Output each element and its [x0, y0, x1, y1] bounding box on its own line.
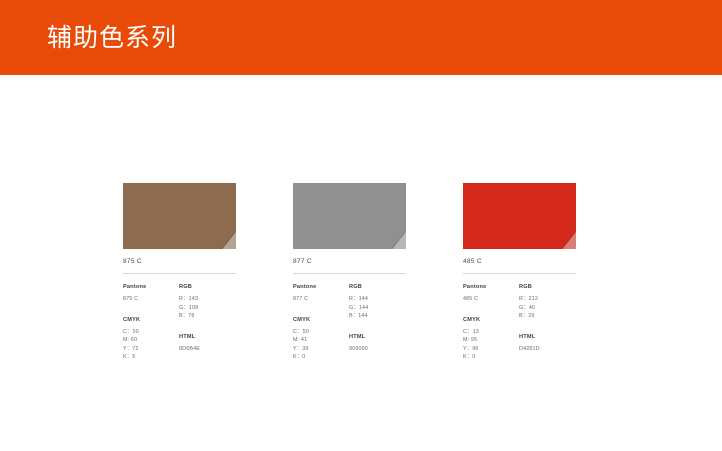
cmyk-c: C：13 — [463, 328, 519, 337]
rgb-b: B：144 — [349, 312, 405, 321]
divider — [463, 273, 576, 274]
color-chip[interactable] — [123, 183, 236, 249]
cmyk-k: K：0 — [463, 353, 519, 362]
cmyk-y: Y：96 — [463, 345, 519, 354]
spec-col-right: RGB R：212 G：40 B：29 HTML D4281D — [519, 284, 575, 362]
rgb-b: B：29 — [519, 312, 575, 321]
rgb-b: B：78 — [179, 312, 235, 321]
spec-col-right: RGB R：144 G：144 B：144 HTML 909090 — [349, 284, 405, 362]
cmyk-c: C：50 — [123, 328, 179, 337]
pantone-value: 877 C — [293, 295, 349, 304]
cmyk-y: Y：39 — [293, 345, 349, 354]
cmyk-c: C：50 — [293, 328, 349, 337]
pantone-value: 485 C — [463, 295, 519, 304]
cmyk-group: CMYK C：50 M: 41 Y：39 K：0 — [293, 317, 349, 362]
rgb-g: G：108 — [179, 304, 235, 313]
spec-block: Pantone 877 C CMYK C：50 M: 41 Y：39 K：0 R… — [293, 284, 406, 362]
cmyk-k: K：0 — [293, 353, 349, 362]
html-value: 909090 — [349, 345, 405, 354]
color-chip[interactable] — [293, 183, 406, 249]
html-value: 8D6B4E — [179, 345, 235, 354]
swatch-card[interactable]: 875 C Pantone 875 C CMYK C：50 M: 60 Y：72… — [123, 183, 236, 362]
pantone-heading: Pantone — [123, 284, 179, 290]
pantone-heading: Pantone — [463, 284, 519, 290]
html-heading: HTML — [519, 334, 575, 340]
cmyk-m: M: 60 — [123, 336, 179, 345]
swatch-name: 485 C — [463, 258, 576, 268]
spec-col-left: Pantone 877 C CMYK C：50 M: 41 Y：39 K：0 — [293, 284, 349, 362]
rgb-heading: RGB — [179, 284, 235, 290]
rgb-g: G：144 — [349, 304, 405, 313]
cmyk-y: Y：72 — [123, 345, 179, 354]
page-title: 辅助色系列 — [47, 22, 177, 54]
divider — [293, 273, 406, 274]
color-chip-fill — [293, 183, 406, 249]
cmyk-group: CMYK C：50 M: 60 Y：72 K：5 — [123, 317, 179, 362]
spec-block: Pantone 485 C CMYK C：13 M: 95 Y：96 K：0 R… — [463, 284, 576, 362]
html-group: HTML 909090 — [349, 334, 405, 354]
header-band: 辅助色系列 — [0, 0, 722, 75]
html-heading: HTML — [349, 334, 405, 340]
spec-col-left: Pantone 875 C CMYK C：50 M: 60 Y：72 K：5 — [123, 284, 179, 362]
rgb-r: R：144 — [349, 295, 405, 304]
cmyk-heading: CMYK — [463, 317, 519, 323]
pantone-heading: Pantone — [293, 284, 349, 290]
swatch-card[interactable]: 877 C Pantone 877 C CMYK C：50 M: 41 Y：39… — [293, 183, 406, 362]
divider — [123, 273, 236, 274]
color-chip-fill — [463, 183, 576, 249]
swatch-name: 875 C — [123, 258, 236, 268]
html-heading: HTML — [179, 334, 235, 340]
color-chip[interactable] — [463, 183, 576, 249]
cmyk-k: K：5 — [123, 353, 179, 362]
cmyk-m: M: 41 — [293, 336, 349, 345]
html-value: D4281D — [519, 345, 575, 354]
cmyk-heading: CMYK — [123, 317, 179, 323]
swatch-name: 877 C — [293, 258, 406, 268]
spec-col-right: RGB R：143 G：108 B：78 HTML 8D6B4E — [179, 284, 235, 362]
cmyk-m: M: 95 — [463, 336, 519, 345]
rgb-g: G：40 — [519, 304, 575, 313]
swatch-card[interactable]: 485 C Pantone 485 C CMYK C：13 M: 95 Y：96… — [463, 183, 576, 362]
html-group: HTML 8D6B4E — [179, 334, 235, 354]
rgb-heading: RGB — [519, 284, 575, 290]
swatch-grid: 875 C Pantone 875 C CMYK C：50 M: 60 Y：72… — [123, 183, 633, 362]
rgb-r: R：143 — [179, 295, 235, 304]
spec-block: Pantone 875 C CMYK C：50 M: 60 Y：72 K：5 R… — [123, 284, 236, 362]
pantone-value: 875 C — [123, 295, 179, 304]
html-group: HTML D4281D — [519, 334, 575, 354]
spec-col-left: Pantone 485 C CMYK C：13 M: 95 Y：96 K：0 — [463, 284, 519, 362]
color-chip-fill — [123, 183, 236, 249]
rgb-r: R：212 — [519, 295, 575, 304]
cmyk-group: CMYK C：13 M: 95 Y：96 K：0 — [463, 317, 519, 362]
cmyk-heading: CMYK — [293, 317, 349, 323]
rgb-heading: RGB — [349, 284, 405, 290]
